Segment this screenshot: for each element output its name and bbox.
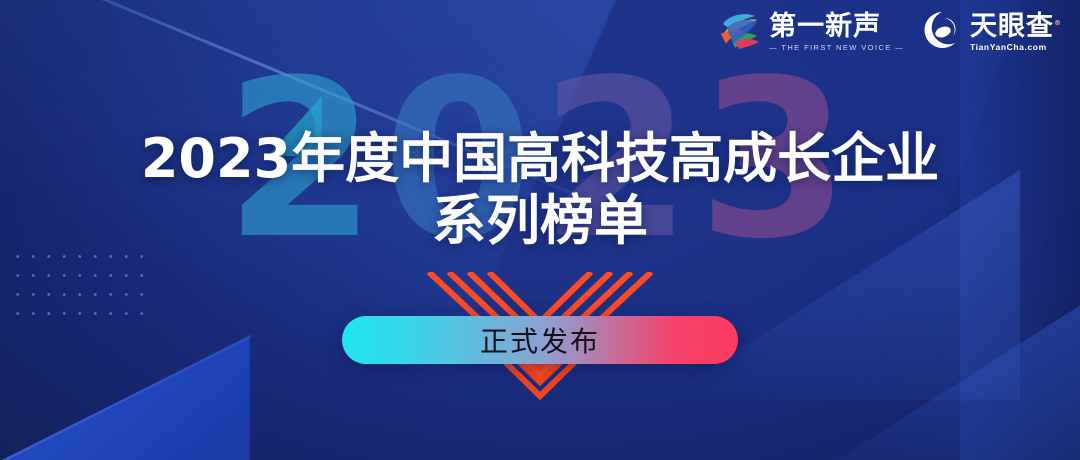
logo-diyixinsheng[interactable]: 第一新声 — THE FIRST NEW VOICE — xyxy=(717,10,904,55)
title-block: 2023年度中国高科技高成长企业 系列榜单 xyxy=(0,128,1080,252)
tianyancha-logo-icon xyxy=(922,10,962,55)
bottom-left-triangle-highlight xyxy=(0,334,252,460)
diyixinsheng-logo-icon xyxy=(717,10,761,55)
tianyancha-logo-text: 天眼查® TianYanCha.com xyxy=(970,13,1062,52)
promo-banner: 2023 2023年度中国高科技高成长企业 系列榜单 正式发布 xyxy=(0,0,1080,460)
bottom-right-triangle xyxy=(790,280,1080,460)
release-status-pill[interactable]: 正式发布 xyxy=(342,316,738,364)
tianyancha-name: 天眼查® xyxy=(970,13,1062,41)
logo-row: 第一新声 — THE FIRST NEW VOICE — 天眼查® TianYa… xyxy=(717,10,1062,55)
diyixinsheng-logo-text: 第一新声 — THE FIRST NEW VOICE — xyxy=(769,13,904,52)
release-status-label: 正式发布 xyxy=(480,320,600,360)
title-line-1: 2023年度中国高科技高成长企业 xyxy=(0,128,1080,190)
registered-mark: ® xyxy=(1054,19,1062,27)
tianyancha-domain: TianYanCha.com xyxy=(970,42,1062,52)
bottom-right-edge-line-2 xyxy=(676,362,1054,460)
logo-tianyancha[interactable]: 天眼查® TianYanCha.com xyxy=(922,10,1062,55)
bottom-left-triangle xyxy=(0,336,250,460)
tianyancha-name-text: 天眼查 xyxy=(970,11,1054,42)
bottom-right-edge-line xyxy=(663,372,1050,460)
diyixinsheng-name: 第一新声 xyxy=(769,13,904,41)
title-line-2: 系列榜单 xyxy=(0,190,1080,252)
diyixinsheng-tagline: — THE FIRST NEW VOICE — xyxy=(769,43,904,52)
